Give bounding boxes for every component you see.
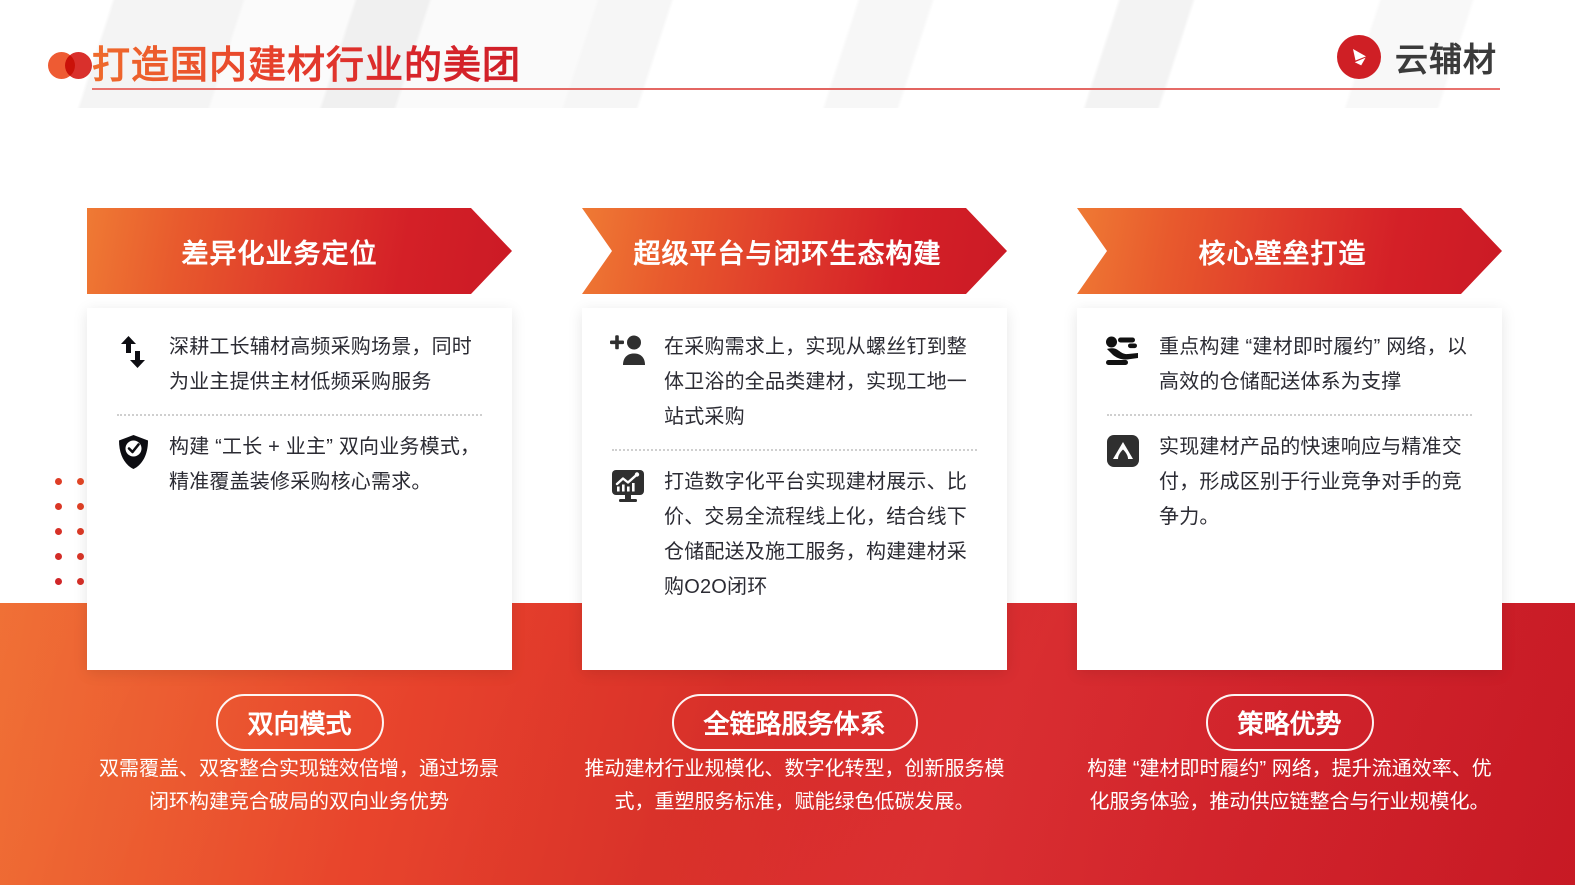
column-2-banner: 超级平台与闭环生态构建: [582, 208, 1007, 294]
list-item: 实现建材产品的快速响应与精准交付，形成区别于行业竞争对手的竞争力。: [1103, 430, 1476, 535]
grid-dot: [55, 578, 62, 585]
item-divider: [117, 414, 482, 416]
column-3-pill: 策略优势: [1205, 694, 1373, 751]
column-1-pill: 双向模式: [215, 694, 383, 751]
list-item: 重点构建 “建材即时履约” 网络，以高效的仓储配送体系为支撑: [1103, 330, 1476, 400]
item-divider: [1107, 414, 1472, 416]
grid-dot: [77, 578, 84, 585]
column-3-description: 构建 “建材即时履约” 网络，提升流通效率、优化服务体验，推动供应链整合与行业规…: [1077, 753, 1502, 819]
grid-dot: [77, 528, 84, 535]
list-item-text: 实现建材产品的快速响应与精准交付，形成区别于行业竞争对手的竞争力。: [1159, 430, 1476, 535]
column-2-pill: 全链路服务体系: [671, 694, 917, 751]
grid-dot: [77, 553, 84, 560]
column-3-banner: 核心壁垒打造: [1077, 208, 1502, 294]
list-item-text: 重点构建 “建材即时履约” 网络，以高效的仓储配送体系为支撑: [1159, 330, 1476, 400]
grid-dot: [55, 553, 62, 560]
list-item-text: 深耕工长辅材高频采购场景，同时为业主提供主材低频采购服务: [169, 330, 486, 400]
slide-canvas: 打造国内建材行业的美团 云辅材 差异化业务定位: [0, 0, 1575, 885]
arch-badge-icon: [1103, 430, 1143, 472]
delivery-runner-icon: [1103, 330, 1143, 372]
grid-dot: [77, 503, 84, 510]
column-3-card: 重点构建 “建材即时履约” 网络，以高效的仓储配送体系为支撑 实现建材产品的快速…: [1077, 308, 1502, 670]
list-item: 构建 “工长 + 业主” 双向业务模式，精准覆盖装修采购核心需求。: [113, 430, 486, 500]
column-2: 超级平台与闭环生态构建 在采购需求上，实现从螺丝钉到整体卫浴的全品类建材，实现工…: [582, 0, 1007, 885]
list-item-text: 打造数字化平台实现建材展示、比价、交易全流程线上化，结合线下仓储配送及施工服务，…: [664, 465, 981, 605]
column-2-description: 推动建材行业规模化、数字化转型，创新服务模式，重塑服务标准，赋能绿色低碳发展。: [582, 753, 1007, 819]
banner-label: 核心壁垒打造: [1199, 232, 1367, 271]
grid-dot: [55, 528, 62, 535]
grid-dot: [55, 503, 62, 510]
list-item-text: 构建 “工长 + 业主” 双向业务模式，精准覆盖装修采购核心需求。: [169, 430, 486, 500]
item-divider: [612, 449, 977, 451]
list-item-text: 在采购需求上，实现从螺丝钉到整体卫浴的全品类建材，实现工地一站式采购: [664, 330, 981, 435]
add-user-icon: [608, 330, 648, 372]
chart-monitor-icon: [608, 465, 648, 507]
column-2-card: 在采购需求上，实现从螺丝钉到整体卫浴的全品类建材，实现工地一站式采购: [582, 308, 1007, 670]
column-1-card: 深耕工长辅材高频采购场景，同时为业主提供主材低频采购服务 构建 “工长 + 业主…: [87, 308, 512, 670]
grid-dot: [55, 478, 62, 485]
list-item: 在采购需求上，实现从螺丝钉到整体卫浴的全品类建材，实现工地一站式采购: [608, 330, 981, 435]
shield-check-icon: [113, 430, 153, 472]
column-3: 核心壁垒打造 重点构建 “建材即时履约” 网络，以高效的仓储配送体系为支撑: [1077, 0, 1502, 885]
banner-label: 差异化业务定位: [182, 232, 378, 271]
grid-dot: [77, 478, 84, 485]
banner-label: 超级平台与闭环生态构建: [634, 232, 942, 271]
column-1: 差异化业务定位 深耕工长辅材高频采购场景，同时为业主提供主材低频采购服务: [87, 0, 512, 885]
list-item: 打造数字化平台实现建材展示、比价、交易全流程线上化，结合线下仓储配送及施工服务，…: [608, 465, 981, 605]
list-item: 深耕工长辅材高频采购场景，同时为业主提供主材低频采购服务: [113, 330, 486, 400]
column-1-description: 双需覆盖、双客整合实现链效倍增，通过场景闭环构建竞合破局的双向业务优势: [89, 753, 509, 819]
exchange-arrows-icon: [113, 330, 153, 372]
column-1-banner: 差异化业务定位: [87, 208, 512, 294]
